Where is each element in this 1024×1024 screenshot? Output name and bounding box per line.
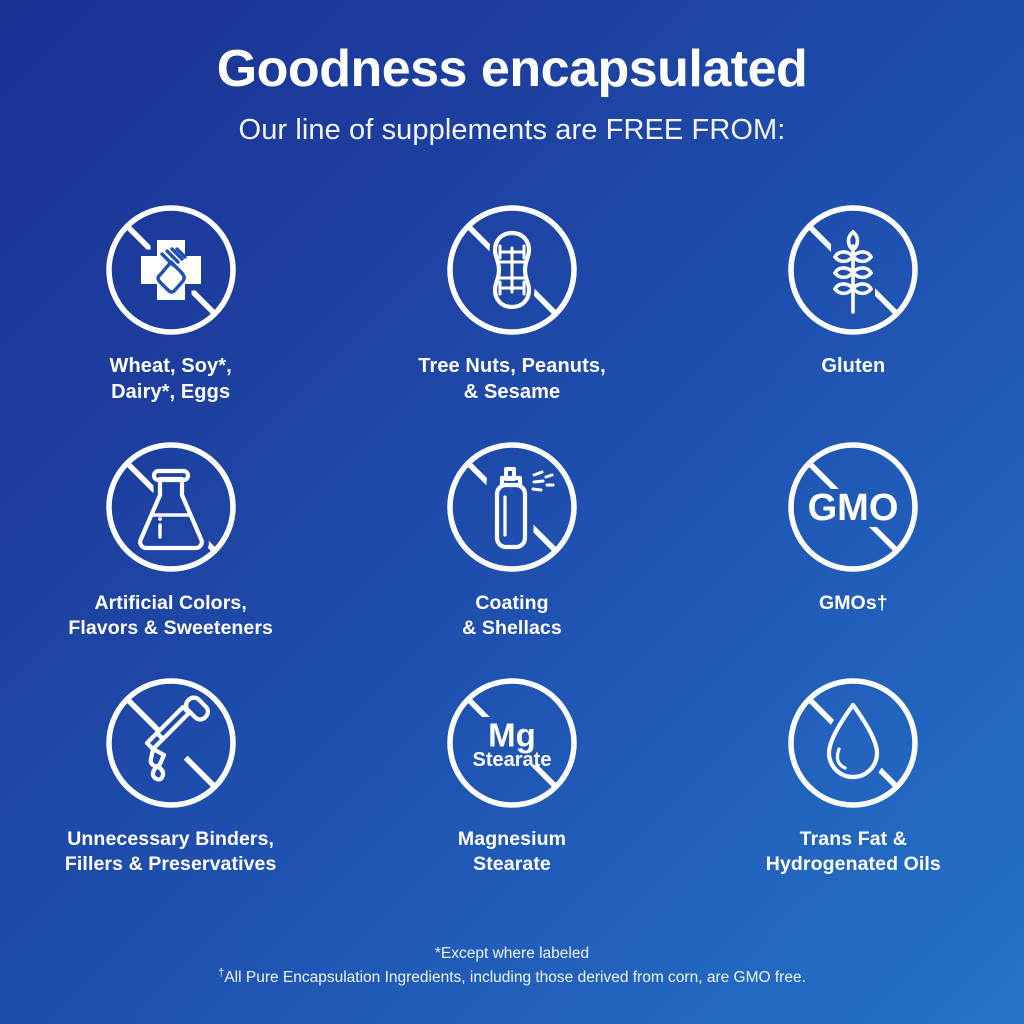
no-gmo-icon: GMO: [783, 437, 923, 577]
stearate-glyph-text: Stearate: [473, 749, 552, 771]
grid-item-coating-shellacs: Coating & Shellacs: [341, 437, 682, 641]
grid-item-label: Gluten: [821, 354, 885, 380]
footnotes: *Except where labeled †All Pure Encapsul…: [0, 942, 1024, 990]
grid-item-gmos: GMO GMOs†: [683, 437, 1024, 641]
page-title: Goodness encapsulated: [0, 42, 1024, 97]
free-from-grid: Wheat, Soy*, Dairy*, Eggs: [0, 200, 1024, 877]
no-wheat-soy-dairy-eggs-icon: [101, 200, 241, 340]
grid-item-label: Unnecessary Binders, Fillers & Preservat…: [65, 827, 277, 877]
grid-item-label: Tree Nuts, Peanuts, & Sesame: [418, 354, 606, 405]
no-coating-shellacs-icon: [442, 437, 582, 577]
grid-item-trans-fat: Trans Fat & Hydrogenated Oils: [683, 673, 1024, 877]
infographic-canvas: Goodness encapsulated Our line of supple…: [0, 0, 1024, 1024]
no-tree-nuts-peanuts-sesame-icon: [442, 200, 582, 340]
no-trans-fat-icon: [783, 673, 923, 813]
grid-item-tree-nuts-peanuts-sesame: Tree Nuts, Peanuts, & Sesame: [341, 200, 682, 405]
grid-item-label: Artificial Colors, Flavors & Sweeteners: [68, 591, 273, 641]
grid-item-gluten: Gluten: [683, 200, 1024, 405]
footnote-dagger-text: All Pure Encapsulation Ingredients, incl…: [224, 969, 806, 986]
grid-item-label: Coating & Shellacs: [462, 591, 562, 641]
no-artificial-colors-icon: [101, 437, 241, 577]
no-magnesium-stearate-icon: Mg Stearate: [442, 673, 582, 813]
grid-item-artificial-colors: Artificial Colors, Flavors & Sweeteners: [0, 437, 341, 641]
grid-item-wheat-soy-dairy-eggs: Wheat, Soy*, Dairy*, Eggs: [0, 200, 341, 405]
no-binders-fillers-preservatives-icon: [101, 673, 241, 813]
header: Goodness encapsulated Our line of supple…: [0, 42, 1024, 147]
grid-item-label: Trans Fat & Hydrogenated Oils: [766, 827, 941, 877]
grid-item-label: Wheat, Soy*, Dairy*, Eggs: [109, 354, 231, 405]
grid-item-magnesium-stearate: Mg Stearate Magnesium Stearate: [341, 673, 682, 877]
gmo-glyph-text: GMO: [808, 487, 899, 529]
mg-glyph-text: Mg: [488, 717, 536, 754]
footnote-dagger: †All Pure Encapsulation Ingredients, inc…: [0, 966, 1024, 990]
grid-item-binders-fillers-preservatives: Unnecessary Binders, Fillers & Preservat…: [0, 673, 341, 877]
page-subtitle: Our line of supplements are FREE FROM:: [0, 113, 1024, 148]
grid-item-label: Magnesium Stearate: [458, 827, 566, 877]
grid-item-label: GMOs†: [819, 591, 888, 616]
no-gluten-icon: [783, 200, 923, 340]
footnote-asterisk: *Except where labeled: [0, 942, 1024, 966]
